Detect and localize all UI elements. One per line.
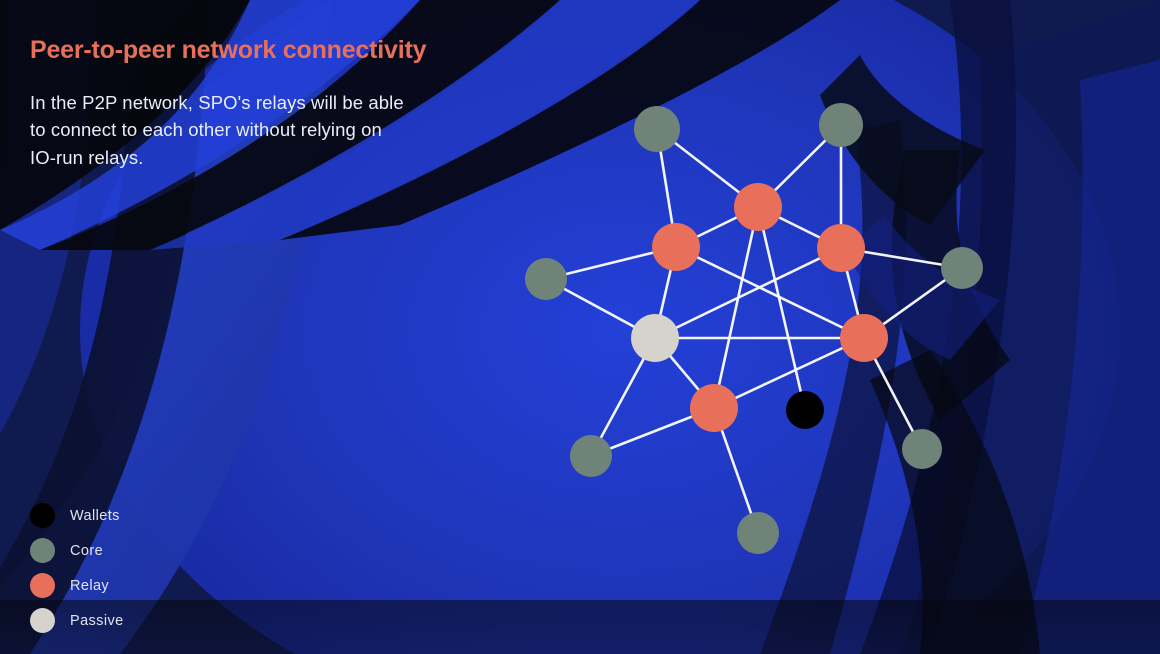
- legend-item-passive: Passive: [30, 603, 124, 638]
- page-description: In the P2P network, SPO's relays will be…: [30, 89, 550, 171]
- graph-node-core[interactable]: [525, 258, 567, 300]
- slide-root: Peer-to-peer network connectivity In the…: [0, 0, 1160, 654]
- legend-item-core: Core: [30, 533, 124, 568]
- graph-node-core[interactable]: [941, 247, 983, 289]
- legend-item-relay: Relay: [30, 568, 124, 603]
- relay-swatch-icon: [30, 573, 55, 598]
- page-title: Peer-to-peer network connectivity: [30, 36, 550, 65]
- description-line-2: to connect to each other without relying…: [30, 116, 550, 143]
- graph-node-relay[interactable]: [690, 384, 738, 432]
- graph-node-relay[interactable]: [840, 314, 888, 362]
- graph-node-wallet[interactable]: [786, 391, 824, 429]
- legend-label-core: Core: [70, 543, 103, 559]
- graph-edge: [758, 207, 805, 410]
- graph-node-passive[interactable]: [631, 314, 679, 362]
- graph-node-relay[interactable]: [652, 223, 700, 271]
- graph-node-core[interactable]: [902, 429, 942, 469]
- graph-node-core[interactable]: [570, 435, 612, 477]
- legend: Wallets Core Relay Passive: [30, 498, 124, 638]
- graph-node-core[interactable]: [737, 512, 779, 554]
- description-line-1: In the P2P network, SPO's relays will be…: [30, 89, 550, 116]
- graph-edge: [714, 338, 864, 408]
- description-line-3: IO-run relays.: [30, 144, 550, 171]
- graph-nodes: [525, 103, 983, 554]
- core-swatch-icon: [30, 538, 55, 563]
- passive-swatch-icon: [30, 608, 55, 633]
- legend-label-passive: Passive: [70, 613, 124, 629]
- graph-node-relay[interactable]: [817, 224, 865, 272]
- legend-item-wallets: Wallets: [30, 498, 124, 533]
- legend-label-relay: Relay: [70, 578, 109, 594]
- graph-node-core[interactable]: [634, 106, 680, 152]
- graph-node-core[interactable]: [819, 103, 863, 147]
- graph-node-relay[interactable]: [734, 183, 782, 231]
- text-block: Peer-to-peer network connectivity In the…: [30, 36, 550, 171]
- wallet-swatch-icon: [30, 503, 55, 528]
- legend-label-wallets: Wallets: [70, 508, 120, 524]
